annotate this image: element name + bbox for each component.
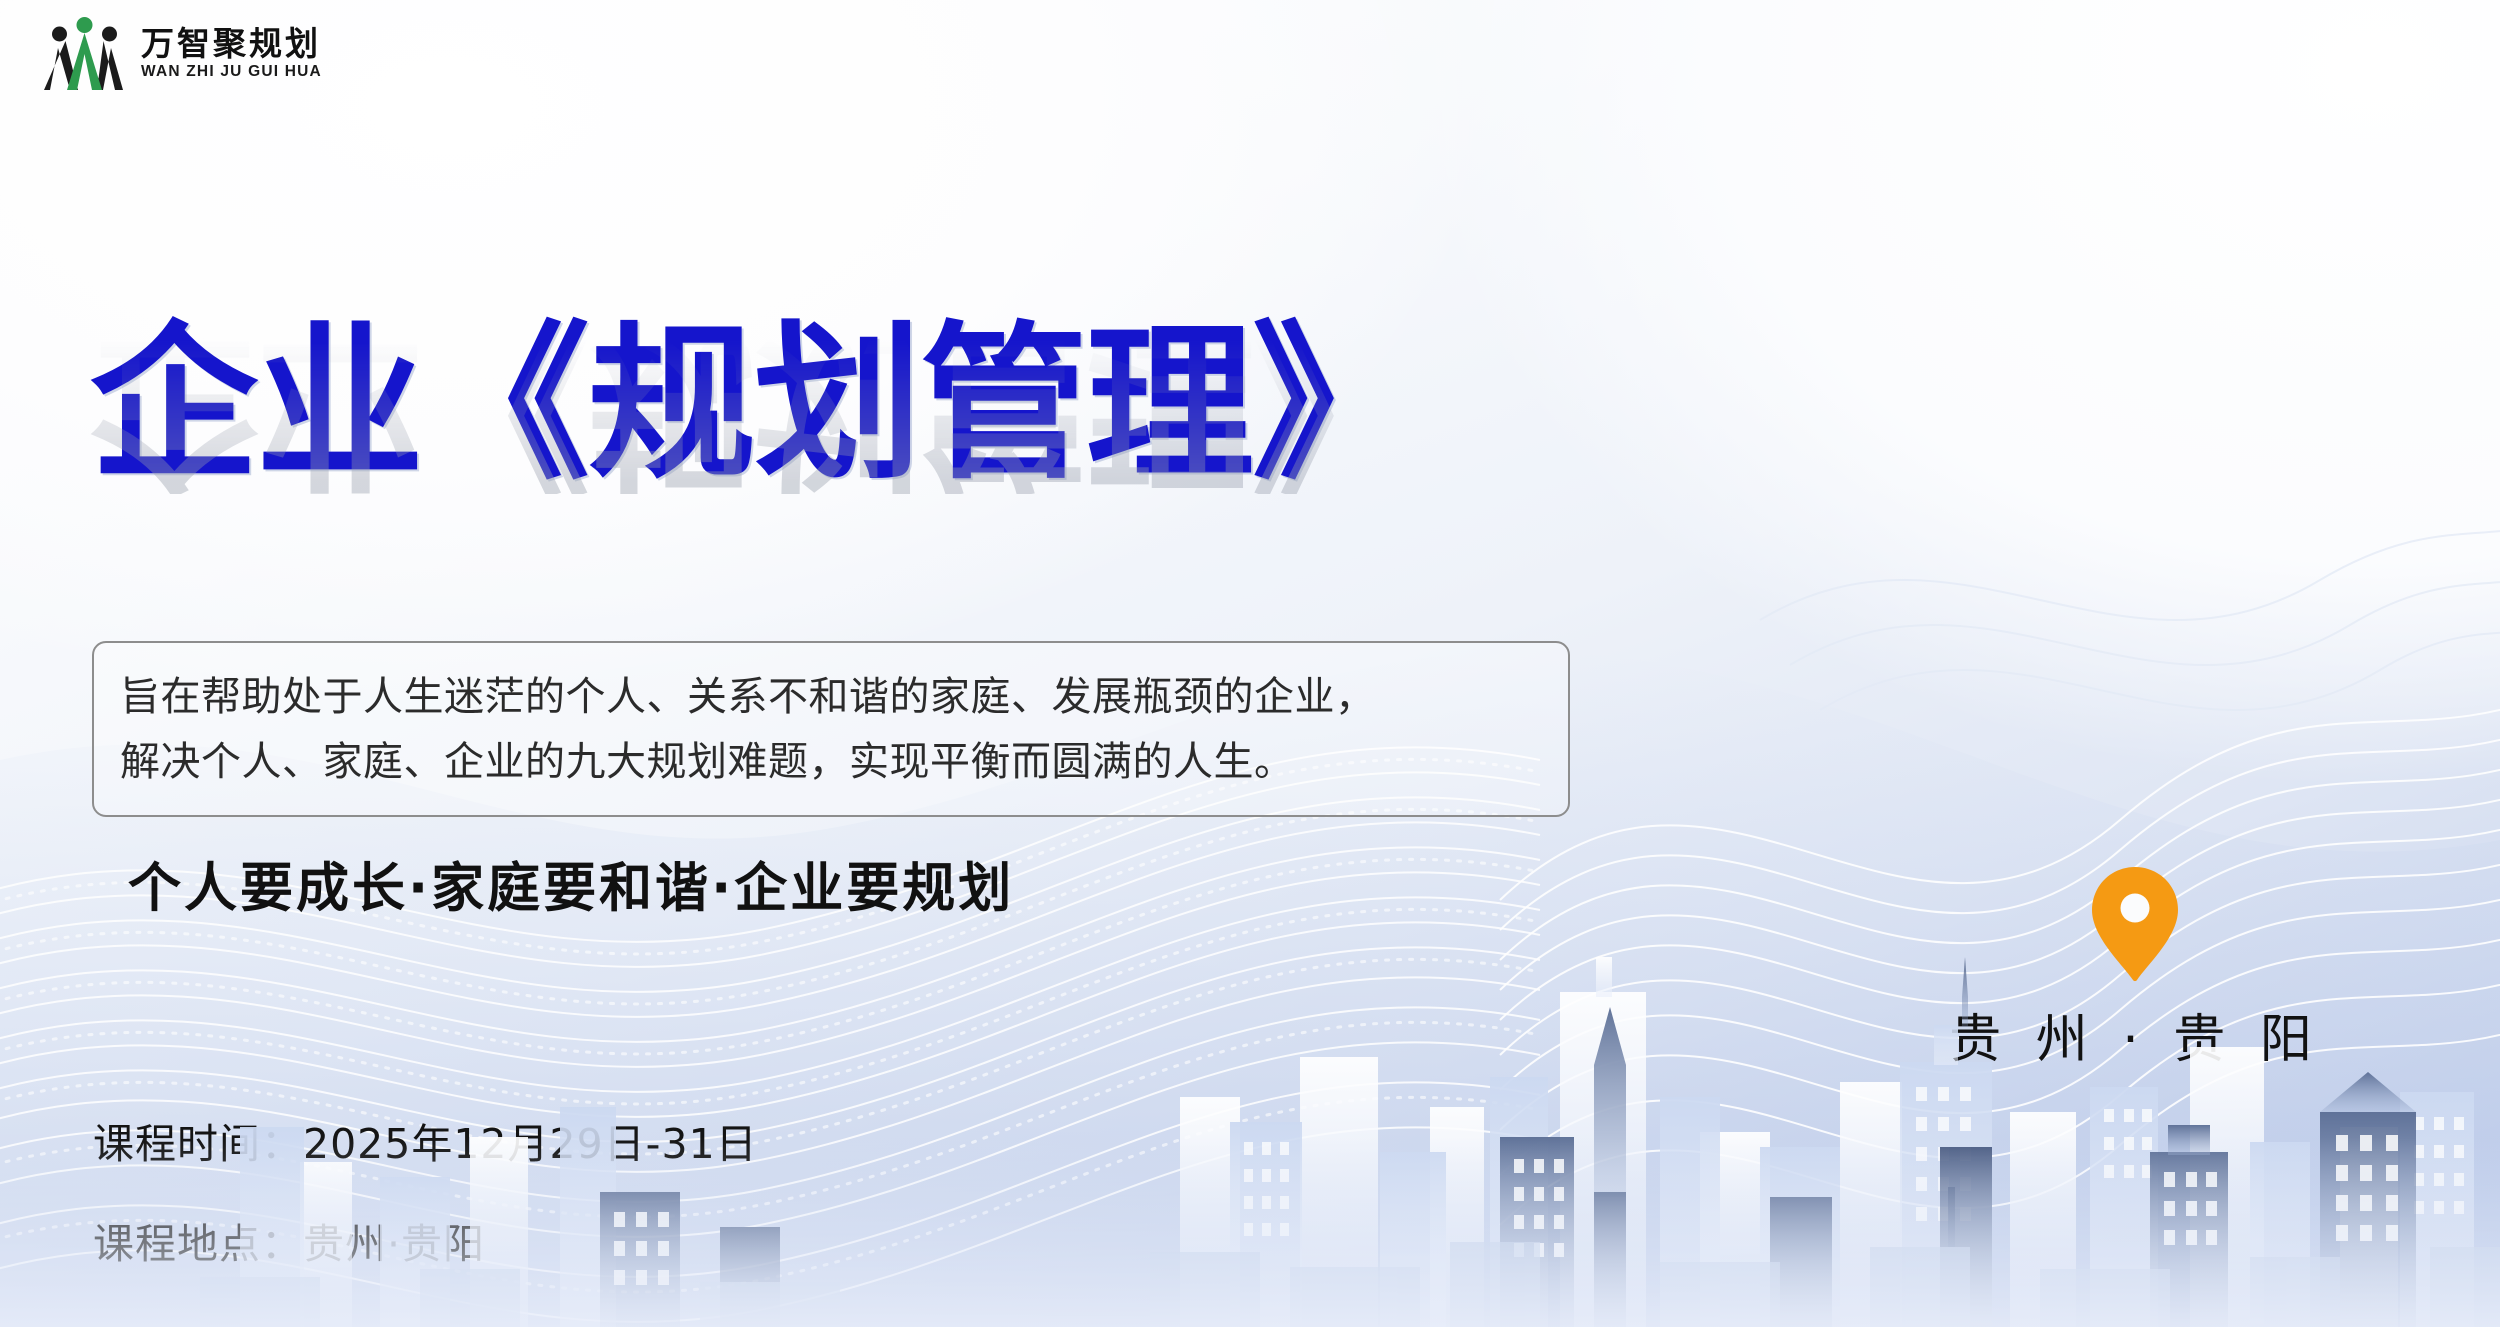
page-title-reflection: 企业《规划管理》: [90, 326, 1650, 494]
brand-name-cn: 万智聚规划: [141, 27, 322, 60]
three-people-logo-icon: [42, 14, 127, 92]
course-info-block: 课程时间：2025年12月29日-31日 课程地点：贵州·贵阳: [93, 1110, 758, 1270]
map-pin-icon: [2089, 865, 2181, 983]
location-label: 贵 州 · 贵 阳: [1949, 997, 2321, 1072]
description-line-1: 旨在帮助处于人生迷茫的个人、关系不和谐的家庭、发展瓶颈的企业，: [120, 665, 1542, 730]
hero-title-block: 企业《规划管理》 企业《规划管理》: [90, 320, 1650, 650]
brand-name-pinyin: WAN ZHI JU GUI HUA: [141, 64, 322, 80]
brand-logo: 万智聚规划 WAN ZHI JU GUI HUA: [42, 14, 322, 92]
location-badge: 贵 州 · 贵 阳: [1955, 865, 2315, 1072]
slogan-text: 个人要成长·家庭要和谐·企业要规划: [128, 846, 1014, 922]
description-line-2: 解决个人、家庭、企业的九大规划难题，实现平衡而圆满的人生。: [120, 730, 1542, 795]
course-time: 课程时间：2025年12月29日-31日: [93, 1110, 758, 1170]
course-place: 课程地点：贵州·贵阳: [93, 1210, 758, 1270]
brand-logo-text: 万智聚规划 WAN ZHI JU GUI HUA: [141, 27, 322, 80]
description-box: 旨在帮助处于人生迷茫的个人、关系不和谐的家庭、发展瓶颈的企业， 解决个人、家庭、…: [92, 641, 1570, 817]
poster-canvas: 万智聚规划 WAN ZHI JU GUI HUA 企业《规划管理》 企业《规划管…: [0, 0, 2500, 1327]
